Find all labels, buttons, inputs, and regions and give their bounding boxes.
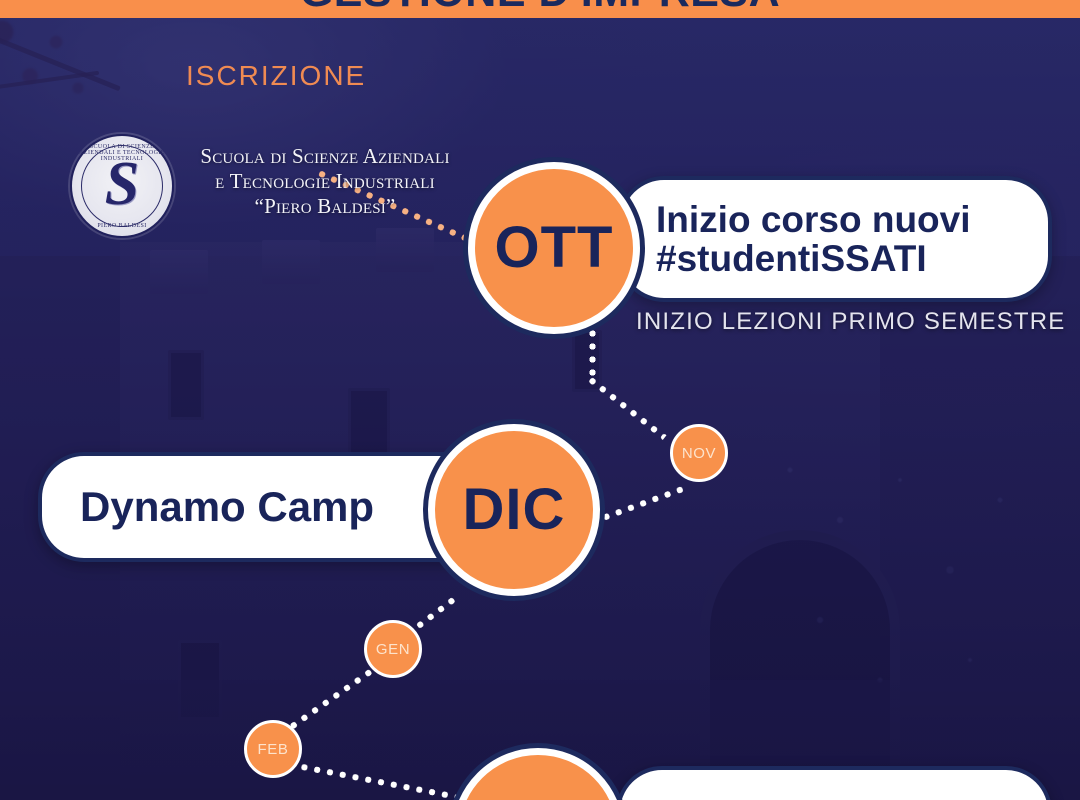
milestone-node-gen-label: GEN (376, 641, 410, 658)
iscrizione-kicker: ISCRIZIONE (186, 60, 366, 92)
seal-monogram-s: S (105, 153, 139, 215)
milestone-node-nov[interactable]: NOV (670, 424, 728, 482)
school-name-line-1: Scuola di Scienze Aziendali (160, 144, 490, 169)
school-name-block: Scuola di Scienze Aziendali e Tecnologie… (160, 144, 490, 218)
milestone-node-ott-label: OTT (495, 219, 614, 277)
banner-title: GESTIONE D'IMPRESA (300, 0, 780, 18)
card-ott-subtitle: INIZIO LEZIONI PRIMO SEMESTRE (636, 308, 1066, 336)
milestone-node-feb[interactable]: FEB (244, 720, 302, 778)
card-ott-event[interactable]: Inizio corso nuovi #studentiSSATI (618, 176, 1052, 302)
milestone-node-ott[interactable]: OTT (468, 162, 640, 334)
milestone-node-feb-label: FEB (258, 741, 289, 758)
school-name-line-2: e Tecnologie Industriali (160, 169, 490, 194)
navy-color-overlay (0, 0, 1080, 800)
milestone-node-nov-label: NOV (682, 445, 716, 462)
infographic-poster: ISCRIZIONE SCUOLA DI SCIENZE AZIENDALI E… (0, 0, 1080, 800)
milestone-node-gen[interactable]: GEN (364, 620, 422, 678)
milestone-node-dic[interactable]: DIC (428, 424, 600, 596)
background-photo (0, 0, 1080, 800)
top-banner: GESTIONE D'IMPRESA (0, 0, 1080, 18)
school-name-line-3: “Piero Baldesi” (160, 194, 490, 219)
card-ott-text: Inizio corso nuovi #studentiSSATI (656, 200, 971, 278)
card-ott-line-1: Inizio corso nuovi (656, 200, 971, 239)
card-dic-event[interactable]: Dynamo Camp (38, 452, 490, 562)
card-dic-text: Dynamo Camp (80, 485, 374, 530)
seal-arc-bottom-text: PIERO BALDESI (72, 223, 172, 229)
card-ott-line-2: #studentiSSATI (656, 239, 971, 278)
milestone-node-dic-label: DIC (463, 481, 566, 539)
card-recruiting-day-event[interactable]: Recruiting Day (616, 766, 1052, 800)
school-seal-logo: SCUOLA DI SCIENZE AZIENDALI E TECNOLOGIE… (70, 134, 174, 238)
